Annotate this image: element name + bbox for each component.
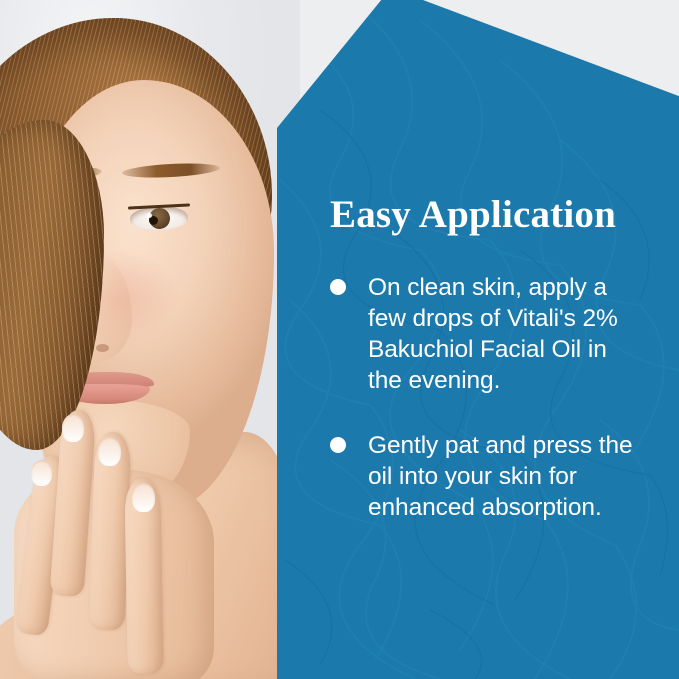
fingernail-little [31, 460, 52, 486]
panel-content: Easy Application On clean skin, apply a … [330, 192, 640, 523]
list-item: Gently pat and press the oil into your s… [330, 430, 640, 523]
fingernail-middle [98, 437, 121, 466]
fingernail-index [62, 414, 84, 442]
list-item-text: Gently pat and press the oil into your s… [368, 432, 633, 521]
list-item-text: On clean skin, apply a few drops of Vita… [368, 274, 618, 394]
list-item: On clean skin, apply a few drops of Vita… [330, 272, 640, 396]
bullet-dot-icon [330, 437, 346, 453]
fingernail-ring [132, 483, 155, 512]
bullet-dot-icon [330, 279, 346, 295]
nostril-right [96, 344, 109, 352]
product-infographic: Easy Application On clean skin, apply a … [0, 0, 679, 679]
model-photo [0, 0, 300, 679]
eye-glint-right [147, 213, 152, 218]
page-title: Easy Application [330, 192, 640, 238]
instruction-list: On clean skin, apply a few drops of Vita… [330, 272, 640, 523]
